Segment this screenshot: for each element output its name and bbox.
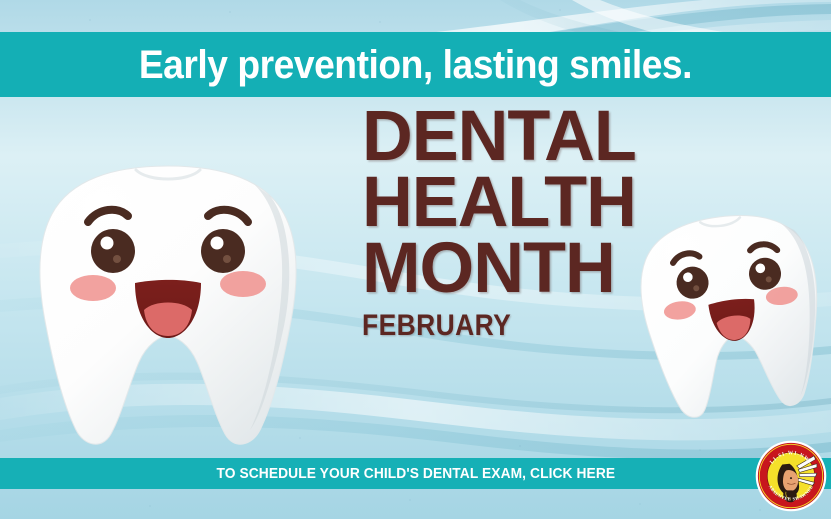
tooth-character-left — [18, 158, 318, 458]
title-month: FEBRUARY — [362, 309, 605, 343]
title-line-3: MONTH — [362, 236, 636, 302]
top-banner: Early prevention, lasting smiles. — [0, 32, 831, 97]
cta-banner[interactable]: TO SCHEDULE YOUR CHILD'S DENTAL EXAM, CL… — [0, 458, 831, 489]
title-line-2: HEALTH — [362, 170, 636, 236]
page-title: DENTAL HEALTH MONTH FEBRUARY — [362, 104, 639, 343]
dental-health-month-poster: Early prevention, lasting smiles. DENTAL… — [0, 0, 831, 519]
tooth-character-right — [634, 208, 831, 458]
absentee-shawnee-seal-logo[interactable]: LI-SI-WI-NWI ABSENTEE SHAWNEE — [755, 440, 827, 512]
title-line-1: DENTAL — [362, 104, 636, 170]
tagline-text: Early prevention, lasting smiles. — [139, 45, 692, 85]
cta-text[interactable]: TO SCHEDULE YOUR CHILD'S DENTAL EXAM, CL… — [216, 466, 615, 482]
